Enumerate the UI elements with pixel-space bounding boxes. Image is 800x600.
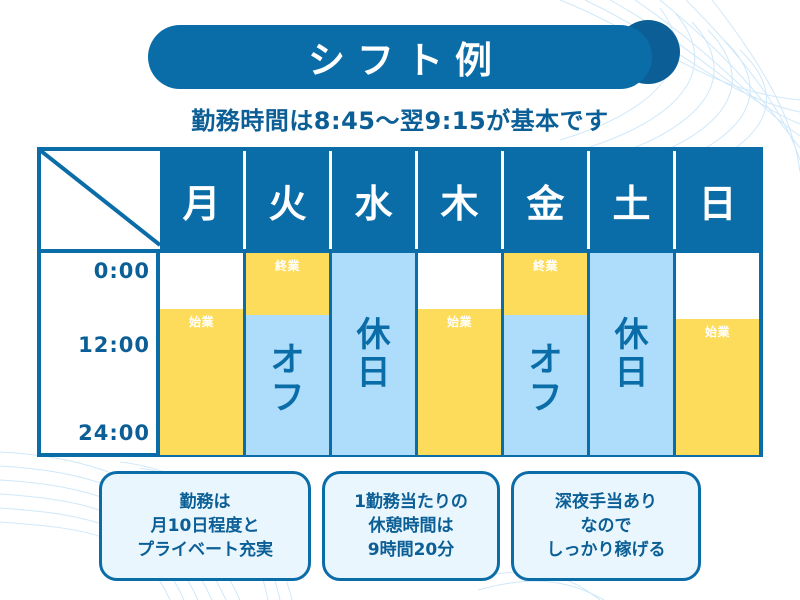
- callout-line: 勤務は: [180, 490, 231, 514]
- callout-line: プライベート充実: [137, 538, 273, 562]
- callout-break-time: 1勤務当たりの休憩時間は9時間20分: [322, 471, 500, 581]
- shift-block-土-holiday[interactable]: 休日: [590, 253, 673, 455]
- callout-line: 深夜手当あり: [555, 490, 657, 514]
- day-header-sat: 土: [587, 151, 673, 249]
- day-column-mon[interactable]: 始業: [160, 253, 246, 453]
- shift-block-tag: 終業: [275, 257, 300, 274]
- title-banner: シフト例: [148, 25, 652, 89]
- callout-line: 1勤務当たりの: [354, 490, 468, 514]
- time-label-24: 24:00: [78, 421, 150, 445]
- day-header-thu: 木: [415, 151, 501, 249]
- shift-block-tag: 始業: [705, 323, 730, 340]
- shift-block-水-holiday[interactable]: 休日: [332, 253, 415, 455]
- shift-table: 月 火 水 木 金 土 日 0:00 12:00 24:00 始業 終業オフ 休…: [37, 147, 763, 457]
- day-header-fri: 金: [501, 151, 587, 249]
- day-header-mon: 月: [160, 151, 243, 249]
- callout-line: しっかり稼げる: [547, 538, 666, 562]
- day-header-wed: 水: [329, 151, 415, 249]
- shift-block-金-work[interactable]: 終業: [504, 253, 587, 315]
- table-header-row: 月 火 水 木 金 土 日: [41, 151, 759, 249]
- diagonal-divider-icon: [41, 151, 160, 249]
- callout-line: なので: [581, 514, 632, 538]
- subtitle: 勤務時間は8:45〜翌9:15が基本です: [0, 101, 800, 136]
- shift-block-火-work[interactable]: 終業: [246, 253, 329, 315]
- day-header-tue: 火: [243, 151, 329, 249]
- day-column-thu[interactable]: 始業: [418, 253, 504, 453]
- shift-block-火-off[interactable]: オフ: [246, 315, 329, 455]
- shift-block-月-work[interactable]: 始業: [160, 309, 243, 455]
- page-title: シフト例: [148, 25, 652, 89]
- day-header-sun: 日: [673, 151, 759, 249]
- day-column-wed[interactable]: 休日: [332, 253, 418, 453]
- shift-block-label: 休日: [590, 316, 673, 392]
- corner-cell: [41, 151, 160, 249]
- day-column-fri[interactable]: 終業オフ: [504, 253, 590, 453]
- callout-work-days: 勤務は月10日程度とプライベート充実: [99, 471, 311, 581]
- shift-block-金-off[interactable]: オフ: [504, 315, 587, 455]
- day-column-sun[interactable]: 始業: [676, 253, 759, 453]
- callout-line: 休憩時間は: [369, 514, 454, 538]
- shift-block-label: 休日: [332, 316, 415, 392]
- shift-block-tag: 始業: [447, 313, 472, 330]
- table-body: 0:00 12:00 24:00 始業 終業オフ 休日 始業 終業オフ 休日 始…: [41, 249, 759, 453]
- shift-block-木-work[interactable]: 始業: [418, 309, 501, 455]
- shift-block-label: オフ: [246, 341, 329, 417]
- time-axis-column: 0:00 12:00 24:00: [41, 253, 160, 453]
- time-label-12: 12:00: [78, 333, 150, 357]
- day-column-tue[interactable]: 終業オフ: [246, 253, 332, 453]
- callout-row: 勤務は月10日程度とプライベート充実 1勤務当たりの休憩時間は9時間20分 深夜…: [0, 471, 800, 581]
- shift-block-tag: 終業: [533, 257, 558, 274]
- day-column-sat[interactable]: 休日: [590, 253, 676, 453]
- shift-block-tag: 始業: [189, 313, 214, 330]
- callout-line: 月10日程度と: [151, 514, 260, 538]
- callout-night-allowance: 深夜手当ありなのでしっかり稼げる: [511, 471, 701, 581]
- shift-block-label: オフ: [504, 341, 587, 417]
- callout-line: 9時間20分: [368, 538, 455, 562]
- time-label-0: 0:00: [94, 259, 150, 283]
- shift-block-日-work[interactable]: 始業: [676, 319, 759, 455]
